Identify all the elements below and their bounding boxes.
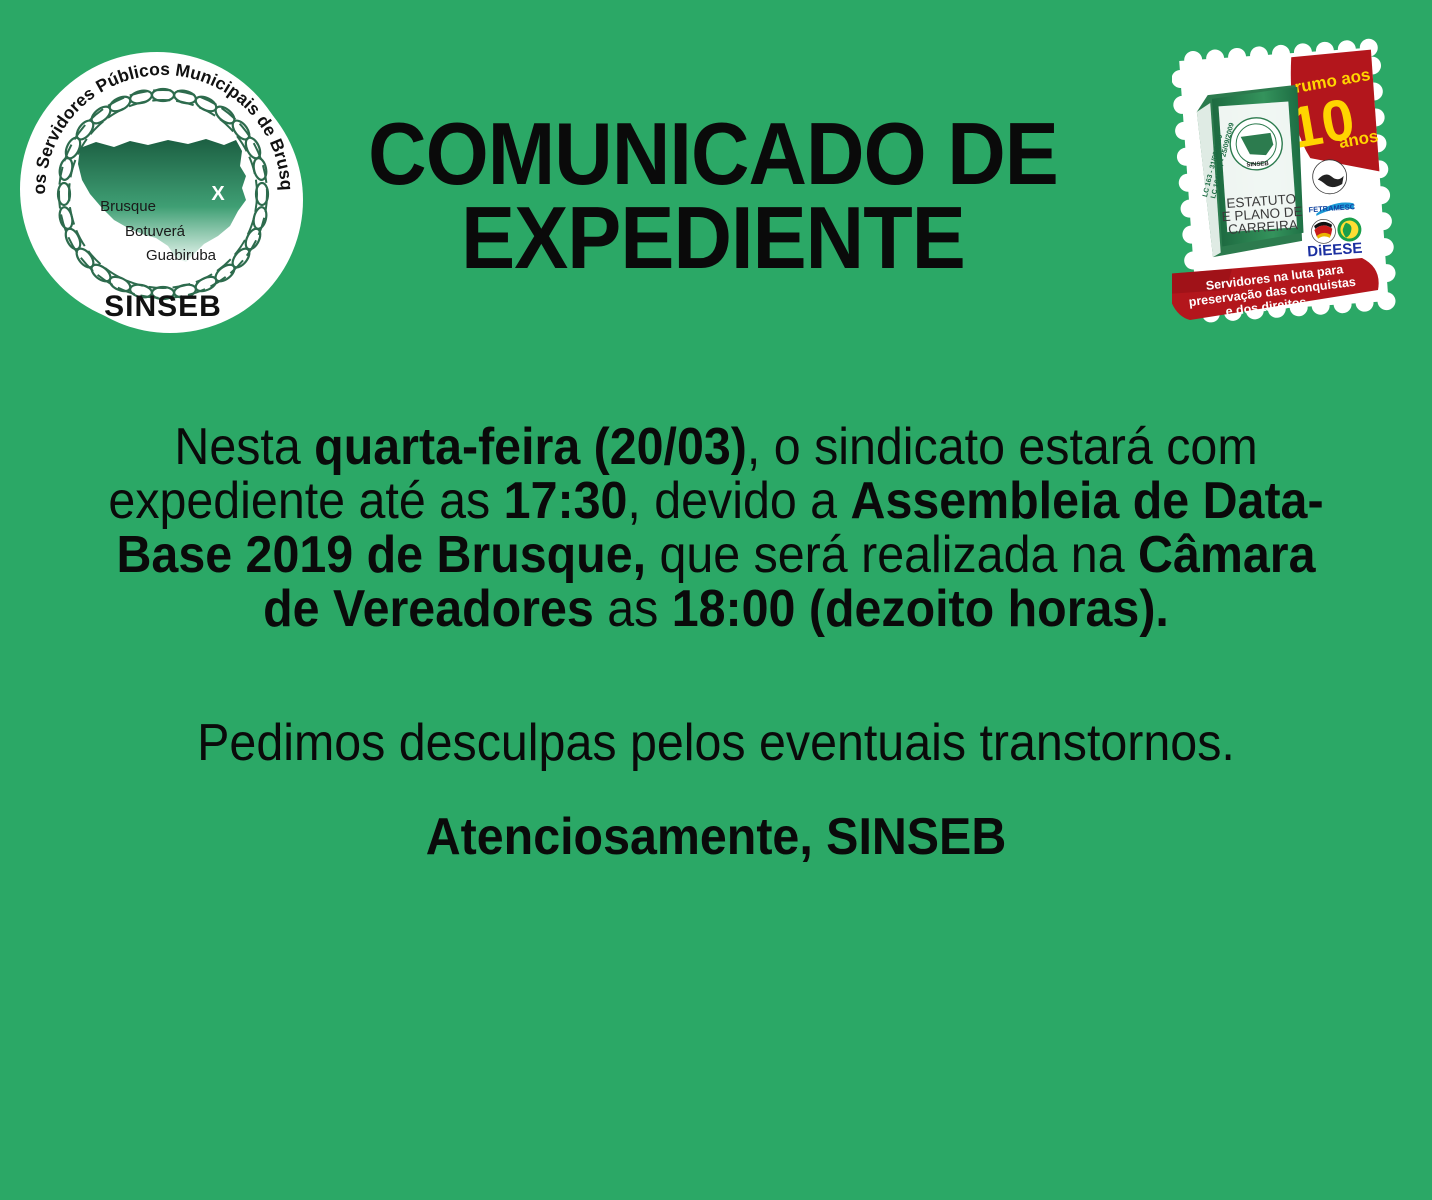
seg-7: que será realizada na [646, 526, 1138, 584]
poster-header: Brusque Botuverá Guabiruba X Sindicato d… [0, 0, 1432, 350]
sinseb-seal-logo: Brusque Botuverá Guabiruba X Sindicato d… [18, 48, 308, 338]
seg-1: Nesta [174, 418, 314, 476]
poster-canvas: Brusque Botuverá Guabiruba X Sindicato d… [0, 0, 1432, 1200]
map-label-botuvera: Botuverá [125, 223, 186, 240]
announcement-signoff: Atenciosamente, SINSEB [93, 810, 1339, 864]
seg-9: as [594, 580, 672, 638]
seg-10-event-time: 18:00 (dezoito horas). [672, 580, 1169, 638]
announcement-apology: Pedimos desculpas pelos eventuais transt… [93, 716, 1339, 770]
title-line-2: EXPEDIENTE [350, 196, 1077, 280]
seal-acronym: SINSEB [104, 290, 222, 323]
seg-4-close-time: 17:30 [504, 472, 628, 530]
page-title: COMUNICADO DE EXPEDIENTE [318, 112, 1108, 279]
statute-book: SINSEB ESTATUTO E PLANO DE CARREIRA LC 1… [1195, 85, 1309, 258]
announcement-paragraph-main: Nesta quarta-feira (20/03), o sindicato … [93, 420, 1339, 636]
map-label-guabiruba: Guabiruba [146, 247, 217, 264]
announcement-body: Nesta quarta-feira (20/03), o sindicato … [46, 420, 1386, 636]
estatuto-stamp-logo: rumo aos 10 anos [1172, 28, 1396, 338]
seg-5: , devido a [627, 472, 850, 530]
map-label-brusque: Brusque [100, 198, 156, 215]
seg-2-weekday-date: quarta-feira (20/03) [314, 418, 747, 476]
title-line-1: COMUNICADO DE [350, 112, 1077, 196]
map-marker-x: X [211, 183, 225, 205]
